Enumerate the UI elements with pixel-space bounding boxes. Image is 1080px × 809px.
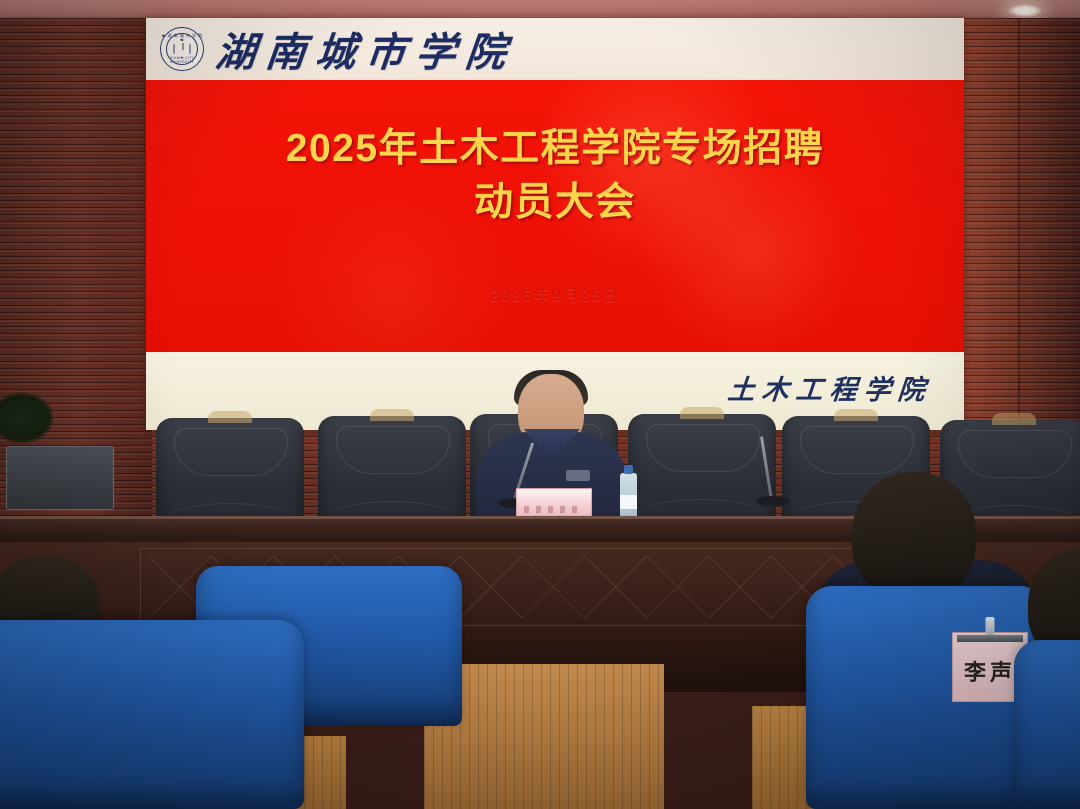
badge-clip-icon (986, 617, 995, 635)
banner-date: 2025年9月25日 (146, 282, 964, 306)
red-event-banner: 2025年土木工程学院专场招聘 动员大会 2025年9月25日 (146, 80, 964, 352)
badge-top-bar (957, 635, 1023, 642)
ceiling-downlight-icon (1008, 4, 1042, 17)
university-header-band: ★ 湖 南 城 市 学 院 ★ HUNAN CITY UNIVERSITY 湖南… (146, 18, 964, 80)
audience-seat (0, 620, 304, 809)
conference-hall-photo: ★ 湖 南 城 市 学 院 ★ HUNAN CITY UNIVERSITY 湖南… (0, 0, 1080, 809)
badge-name-text: 李声 (964, 655, 1016, 687)
chair-headrest (834, 409, 878, 421)
laptop-icon (6, 446, 114, 510)
university-name: 湖南城市学院 (213, 20, 519, 78)
bottle-label (620, 495, 637, 509)
hunan-city-university-emblem-icon: ★ 湖 南 城 市 学 院 ★ HUNAN CITY UNIVERSITY (160, 27, 204, 71)
microphone-base (756, 496, 790, 506)
department-name: 土木工程学院 (726, 368, 933, 407)
chair-headrest (680, 407, 724, 419)
banner-title-line1: 2025年土木工程学院专场招聘 (286, 127, 824, 170)
speaker-shirt-logo (566, 470, 590, 481)
decorative-plant (0, 392, 54, 444)
emblem-arc-bottom-text: HUNAN CITY UNIVERSITY (161, 57, 203, 64)
stage-backdrop-screen: ★ 湖 南 城 市 学 院 ★ HUNAN CITY UNIVERSITY 湖南… (146, 18, 964, 430)
audience-seat (1014, 640, 1080, 809)
banner-title-line2: 动员大会 (146, 176, 964, 230)
chair-headrest (208, 411, 252, 423)
banner-title: 2025年土木工程学院专场招聘 动员大会 (146, 122, 964, 230)
chair-headrest (370, 409, 414, 421)
attendee-head (852, 472, 976, 598)
desk-name-card (516, 488, 592, 518)
chair-headrest (992, 413, 1036, 425)
